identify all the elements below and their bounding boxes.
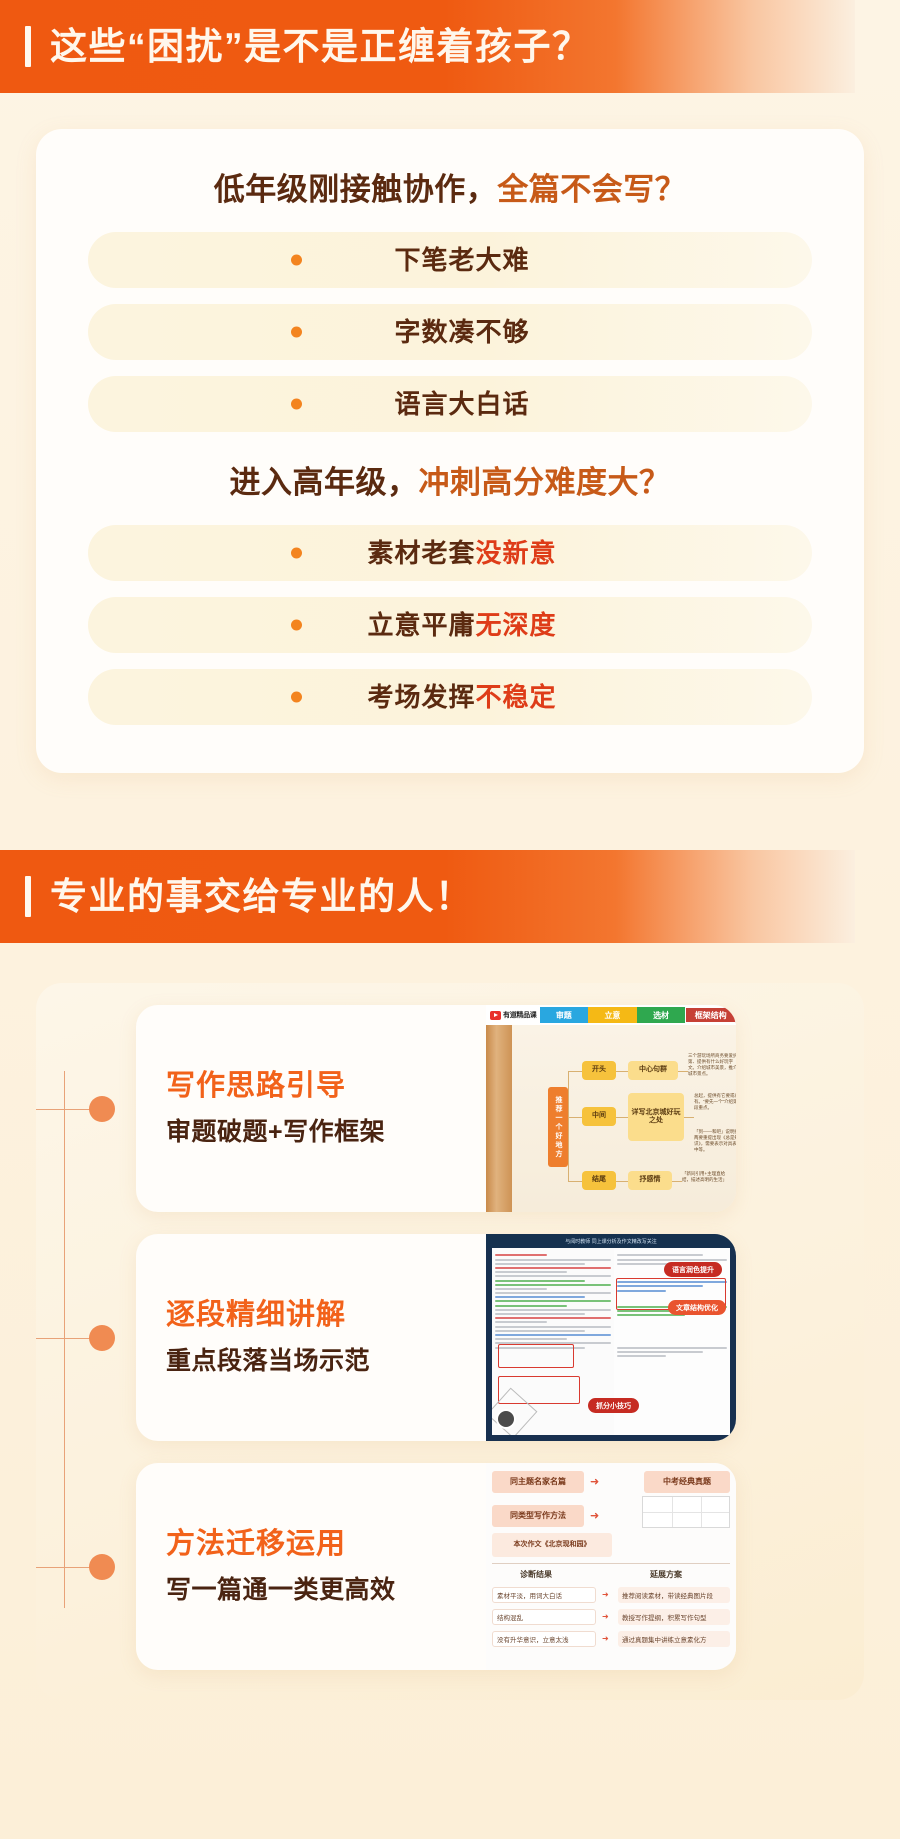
features-card: 写作思路引导 审题破题+写作框架 有道精品课 审题 立意 xyxy=(36,983,864,1700)
banner-title: 专业的事交给专业的人！ xyxy=(50,878,474,915)
transfer-col-diagnosis: 诊断结果 xyxy=(520,1569,552,1580)
transfer-row-right: 教授写作提纲，积累写作句型 xyxy=(618,1609,730,1625)
problem-item-text: 下笔老大难 xyxy=(394,247,529,273)
feature-row: 写作思路引导 审题破题+写作框架 有道精品课 审题 立意 xyxy=(36,1005,864,1212)
mindmap-node-shuganqing: 抒感情 xyxy=(628,1171,672,1190)
problem-group-1-title: 低年级刚接触协作，全篇不会写？ xyxy=(88,173,812,207)
feature-card[interactable]: 逐段精细讲解 重点段落当场示范 与阅时教师 同上课分析及作文精改写关注 xyxy=(136,1234,736,1441)
problem-text-highlight: 无深度 xyxy=(476,610,557,640)
problems-card: 低年级刚接触协作，全篇不会写？ 下笔老大难 字数凑不够 语言大白话 进入高年级，… xyxy=(36,129,864,773)
problem-text-plain: 素材老套 xyxy=(367,538,475,568)
problem-item: 考场发挥不稳定 xyxy=(88,669,812,725)
transfer-col-extension: 延展方案 xyxy=(650,1569,682,1580)
feature-text: 写作思路引导 审题破题+写作框架 xyxy=(136,1005,446,1212)
problem-item-text: 素材老套没新意 xyxy=(367,540,556,566)
thumb-tab-liyi: 立意 xyxy=(588,1007,637,1023)
essay-badge-tips: 抓分小技巧 xyxy=(588,1398,639,1413)
problem-item-text: 考场发挥不稳定 xyxy=(367,684,556,710)
feature-card[interactable]: 写作思路引导 审题破题+写作框架 有道精品课 审题 立意 xyxy=(136,1005,736,1212)
mindmap-node-xiangxie: 详写北京城好玩之处 xyxy=(628,1093,684,1141)
problem-item: 字数凑不够 xyxy=(88,304,812,360)
transfer-row-left: 结构混乱 xyxy=(492,1609,596,1625)
section-banner-professional: 专业的事交给专业的人！ xyxy=(0,850,855,943)
feature-text: 方法迁移运用 写一篇通一类更高效 xyxy=(136,1463,446,1670)
timeline-node-icon xyxy=(89,1325,115,1351)
mindmap-node-zhongjian: 中间 xyxy=(582,1107,616,1126)
problem-item-text: 字数凑不够 xyxy=(394,319,529,345)
transfer-chip-current: 本次作文《北京现和园》 xyxy=(492,1533,612,1557)
bullet-dot-icon xyxy=(291,692,302,703)
mindmap-node-jiewei: 结尾 xyxy=(582,1171,616,1190)
group-title-plain: 低年级刚接触协作， xyxy=(214,172,498,207)
mindmap-root-label: 推荐一个好地方 xyxy=(548,1087,568,1167)
thumb-tabs: 审题 立意 选材 框架结构 xyxy=(540,1007,737,1023)
essay-redbox xyxy=(498,1344,574,1368)
problem-text-plain: 立意平庸 xyxy=(367,610,475,640)
problem-item-text: 立意平庸无深度 xyxy=(367,612,556,638)
feature-thumbnail-transfer[interactable]: 同主题名家名篇 ➜ 中考经典真题 同类型写作方法 ➜ 本次作文《北京现和园》 诊… xyxy=(486,1463,736,1670)
essay-badge-language: 语言润色提升 xyxy=(664,1262,722,1277)
problem-group-2-title: 进入高年级，冲刺高分难度大？ xyxy=(88,466,812,500)
brand-name: 有道精品课 xyxy=(503,1010,537,1020)
feature-subtitle: 重点段落当场示范 xyxy=(166,1348,446,1376)
thumb-topbar: 有道精品课 审题 立意 选材 框架结构 xyxy=(486,1005,736,1025)
problem-group-2: 进入高年级，冲刺高分难度大？ 素材老套没新意 立意平庸无深度 考场发挥不稳定 xyxy=(36,466,864,725)
transfer-grid xyxy=(642,1496,730,1528)
problem-item: 下笔老大难 xyxy=(88,232,812,288)
transfer-chip-method: 同类型写作方法 xyxy=(492,1505,584,1527)
mindmap-note: 「新同引用+主理直给结，描述高明的生活」 xyxy=(682,1171,734,1183)
wood-desk-edge xyxy=(486,1025,512,1212)
problem-text-plain: 考场发挥 xyxy=(367,682,475,712)
transfer-chip-famous: 同主题名家名篇 xyxy=(492,1471,584,1493)
feature-title: 方法迁移运用 xyxy=(166,1529,446,1561)
feature-subtitle: 审题破题+写作框架 xyxy=(166,1119,446,1147)
banner-accent-bar xyxy=(25,876,31,917)
mindmap-node-zhongxin: 中心句群 xyxy=(628,1061,678,1080)
thumb-header: 与阅时教师 同上课分析及作文精改写关注 xyxy=(486,1234,736,1248)
thumb-tab-kuangjia: 框架结构 xyxy=(685,1007,736,1023)
problem-text-plain: 字数凑不够 xyxy=(394,317,529,347)
brand-logo: 有道精品课 xyxy=(490,1010,537,1020)
bullet-dot-icon xyxy=(291,548,302,559)
thumb-tab-xuancai: 选材 xyxy=(637,1007,686,1023)
banner-title: 这些“困扰”是不是正缠着孩子？ xyxy=(50,28,591,65)
bullet-dot-icon xyxy=(291,255,302,266)
mindmap-note: 总起，提供有它要或者要有。“要先一个”介绍第一段重点。 xyxy=(694,1093,736,1111)
mindmap-node-kaitou: 开头 xyxy=(582,1061,616,1080)
feature-thumbnail-essay[interactable]: 与阅时教师 同上课分析及作文精改写关注 xyxy=(486,1234,736,1441)
feature-thumbnail-mindmap[interactable]: 有道精品课 审题 立意 选材 框架结构 推荐一个好地方 xyxy=(486,1005,736,1212)
promo-page: 这些“困扰”是不是正缠着孩子？ 低年级刚接触协作，全篇不会写？ 下笔老大难 字数… xyxy=(0,0,900,1839)
mindmap-note: 「到——和吧」说明提供两要重提出现《总是知识》，需要表示对具表面的中等。 xyxy=(694,1129,736,1153)
transfer-row-left: 素材平淡，用词大白话 xyxy=(492,1587,596,1603)
play-icon xyxy=(490,1011,501,1020)
feature-title: 逐段精细讲解 xyxy=(166,1300,446,1332)
mindmap-note: 三个游玩场所商务要爱护第、提供有什么好玩字文。介绍城市美景，推介城市景点。 xyxy=(688,1053,736,1077)
timeline-node-icon xyxy=(89,1096,115,1122)
problem-item: 语言大白话 xyxy=(88,376,812,432)
transfer-row-right: 推荐阅读素材，带读经典图片段 xyxy=(618,1587,730,1603)
group-title-plain: 进入高年级， xyxy=(230,465,419,500)
problem-text-highlight: 没新意 xyxy=(476,538,557,568)
section-banner-problems: 这些“困扰”是不是正缠着孩子？ xyxy=(0,0,855,93)
transfer-row-right: 通过真题集中讲练立意素化方 xyxy=(618,1631,730,1647)
feature-card[interactable]: 方法迁移运用 写一篇通一类更高效 同主题名家名篇 ➜ 中考经典真题 同类型写作方… xyxy=(136,1463,736,1670)
problem-text-highlight: 不稳定 xyxy=(476,682,557,712)
feature-row: 逐段精细讲解 重点段落当场示范 与阅时教师 同上课分析及作文精改写关注 xyxy=(36,1234,864,1441)
bullet-dot-icon xyxy=(291,399,302,410)
mindmap-paper: 推荐一个好地方 开头 中心句群 中间 详写北京城好玩之处 xyxy=(512,1025,736,1212)
bullet-dot-icon xyxy=(291,620,302,631)
problem-group-1: 低年级刚接触协作，全篇不会写？ 下笔老大难 字数凑不够 语言大白话 xyxy=(36,173,864,432)
problem-item-text: 语言大白话 xyxy=(394,391,529,417)
feature-row: 方法迁移运用 写一篇通一类更高效 同主题名家名篇 ➜ 中考经典真题 同类型写作方… xyxy=(36,1463,864,1670)
problem-item: 立意平庸无深度 xyxy=(88,597,812,653)
banner-accent-bar xyxy=(25,26,31,67)
feature-subtitle: 写一篇通一类更高效 xyxy=(166,1577,446,1605)
group-title-highlight: 全篇不会写？ xyxy=(497,172,686,207)
problem-item: 素材老套没新意 xyxy=(88,525,812,581)
timeline-node-icon xyxy=(89,1554,115,1580)
feature-text: 逐段精细讲解 重点段落当场示范 xyxy=(136,1234,446,1441)
problem-text-plain: 语言大白话 xyxy=(394,389,529,419)
feature-title: 写作思路引导 xyxy=(166,1071,446,1103)
bullet-dot-icon xyxy=(291,327,302,338)
group-title-highlight: 冲刺高分难度大？ xyxy=(419,465,671,500)
essay-document: 语言润色提升 文章结构优化 抓分小技巧 xyxy=(492,1248,730,1435)
transfer-row-left: 没有升华意识，立意太浅 xyxy=(492,1631,596,1647)
problem-text-plain: 下笔老大难 xyxy=(394,245,529,275)
thumb-header-text: 与阅时教师 同上课分析及作文精改写关注 xyxy=(565,1238,656,1245)
transfer-chip-exam: 中考经典真题 xyxy=(644,1471,730,1493)
thumb-tab-shenti: 审题 xyxy=(540,1007,589,1023)
essay-badge-structure: 文章结构优化 xyxy=(668,1300,726,1315)
